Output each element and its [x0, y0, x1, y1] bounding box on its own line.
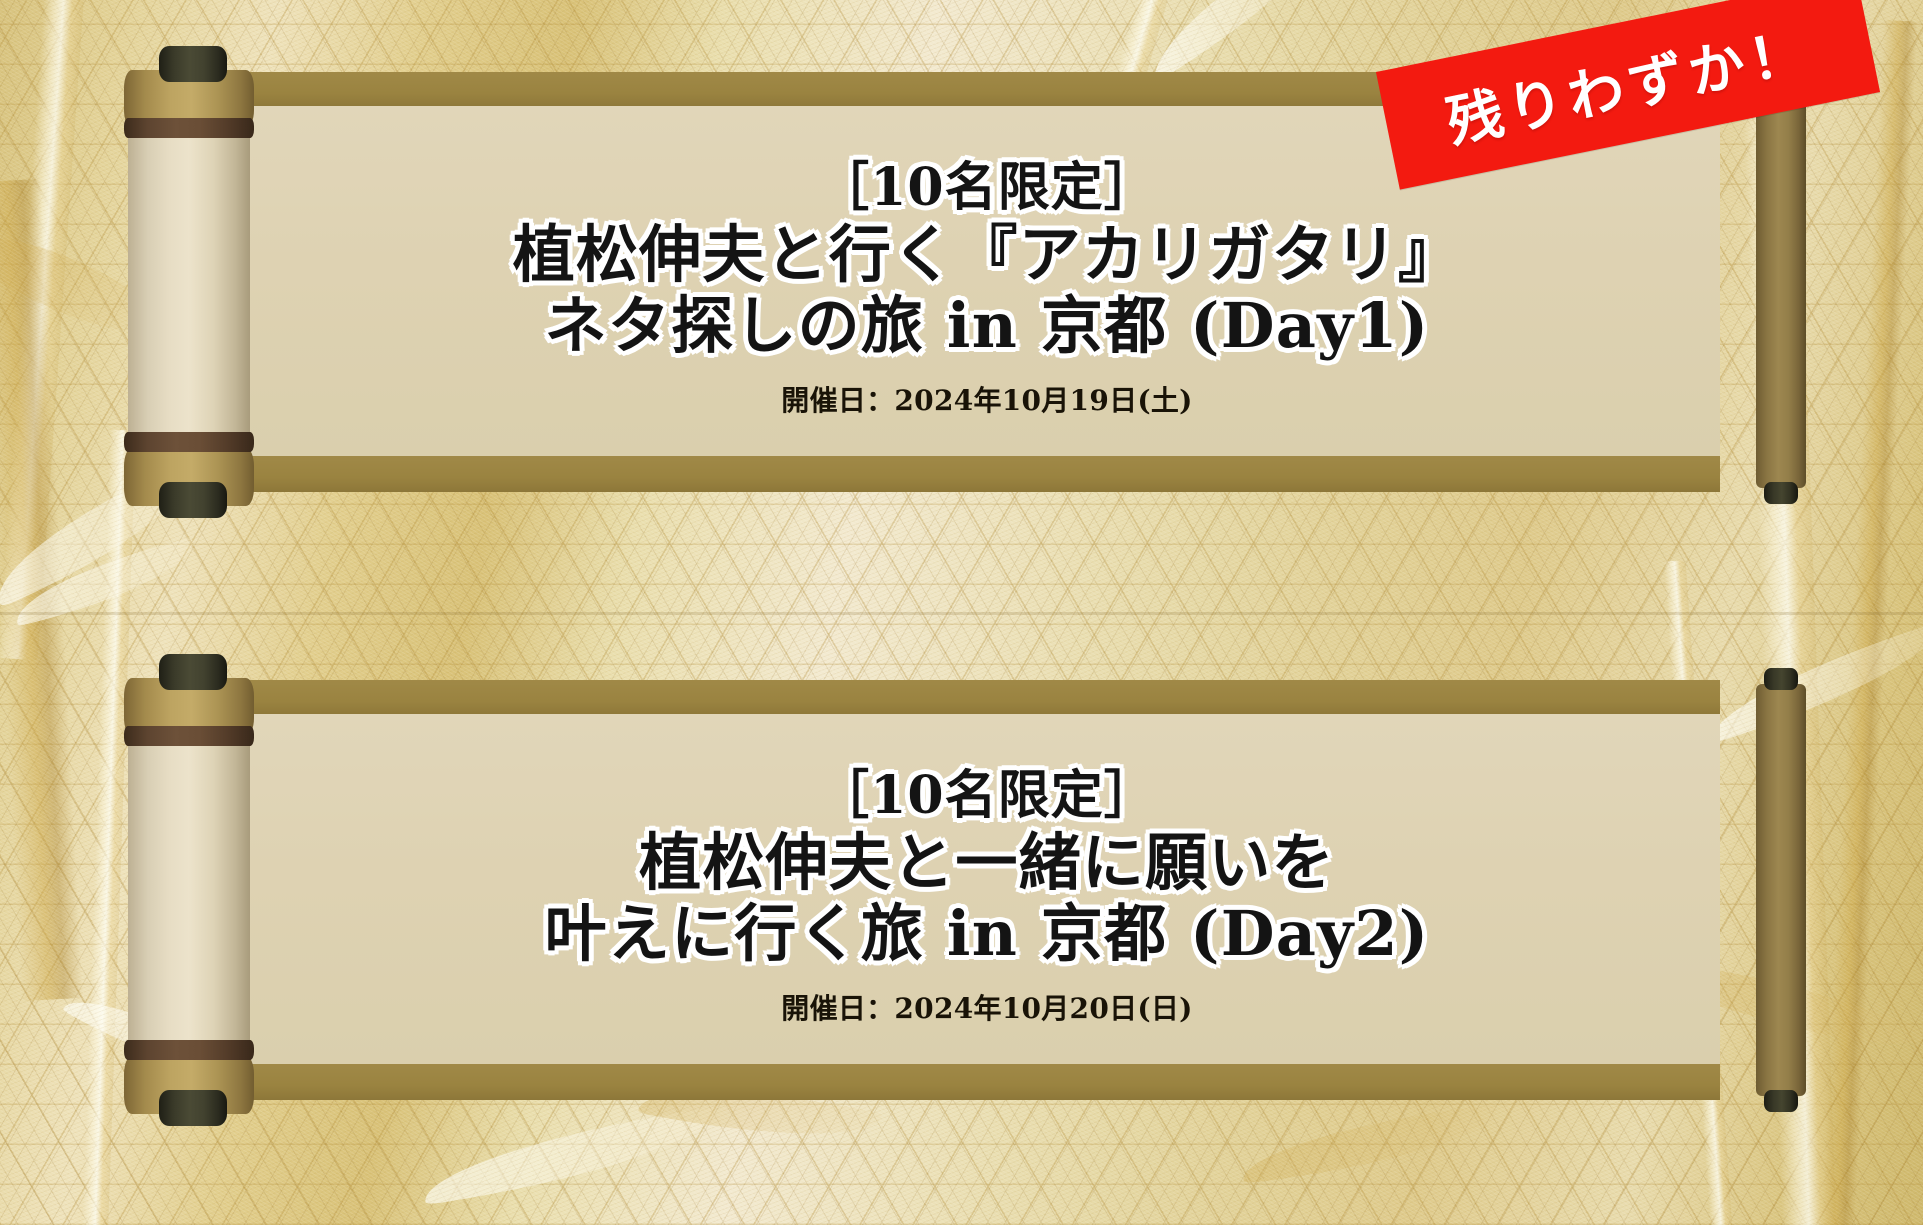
scroll-right-rod	[1756, 62, 1806, 502]
scroll-left-roller	[128, 670, 250, 1110]
section-divider	[0, 612, 1923, 615]
scroll-right-rod	[1756, 670, 1806, 1110]
roller-knob-bottom-icon	[159, 1090, 227, 1126]
limit-label-day1: ［10名限定］	[817, 159, 1157, 217]
title-line2-day1: ネタ探しの旅 in 京都 (Day1)	[545, 291, 1430, 360]
scroll-content-day2: ［10名限定］ 植松伸夫と一緒に願いを 叶えに行く旅 in 京都 (Day2) …	[278, 724, 1696, 1066]
event-date-day1: 開催日：2024年10月19日(土)	[781, 379, 1192, 419]
scroll-bottom-mount-bar	[236, 1064, 1720, 1100]
limit-label-day2: ［10名限定］	[817, 767, 1157, 825]
title-line2-day2: 叶えに行く旅 in 京都 (Day2)	[545, 899, 1430, 968]
title-line1-day1: 植松伸夫と行く『アカリガタリ』	[513, 220, 1462, 289]
roller-knob-top-icon	[159, 654, 227, 690]
roller-knob-bottom-icon	[159, 482, 227, 518]
scroll-top-mount-bar	[236, 680, 1720, 716]
scroll-banner-day2[interactable]: ［10名限定］ 植松伸夫と一緒に願いを 叶えに行く旅 in 京都 (Day2) …	[128, 680, 1806, 1100]
scroll-left-roller	[128, 62, 250, 502]
event-date-day2: 開催日：2024年10月20日(日)	[781, 987, 1192, 1027]
scroll-bottom-mount-bar	[236, 456, 1720, 492]
poster-stage: ［10名限定］ 植松伸夫と行く『アカリガタリ』 ネタ探しの旅 in 京都 (Da…	[0, 0, 1923, 1225]
roller-knob-top-icon	[159, 46, 227, 82]
title-line1-day2: 植松伸夫と一緒に願いを	[639, 828, 1335, 897]
